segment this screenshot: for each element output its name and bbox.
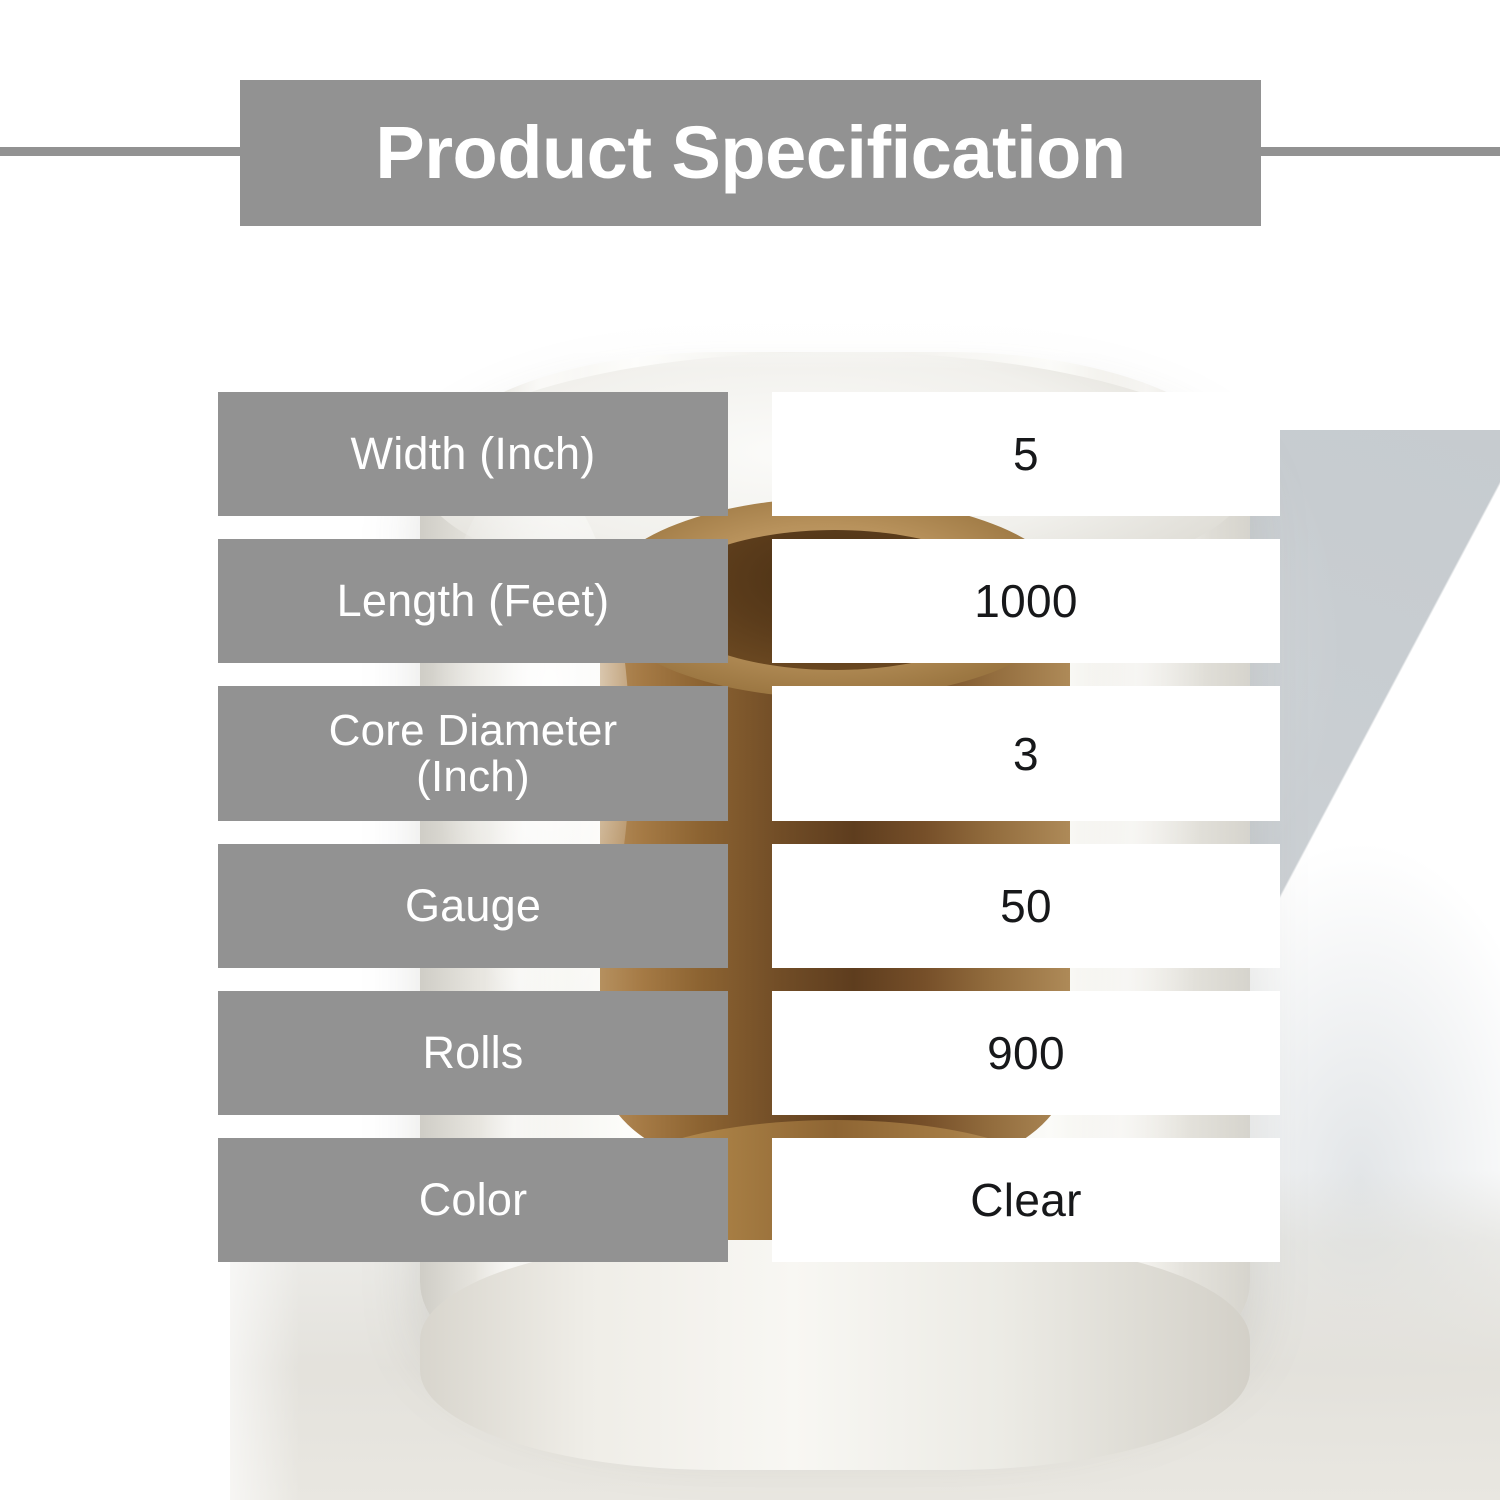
table-row: Length (Feet) 1000: [218, 539, 1280, 663]
film-roll-bottom: [420, 1240, 1250, 1470]
table-row: Core Diameter (Inch) 3: [218, 686, 1280, 821]
spec-value-core-diameter: 3: [772, 686, 1280, 821]
header-rule-right: [1259, 147, 1500, 156]
spec-value-length: 1000: [772, 539, 1280, 663]
row-gap: [728, 392, 772, 516]
spec-label-length: Length (Feet): [218, 539, 728, 663]
page-title: Product Specification: [375, 116, 1125, 190]
row-gap: [728, 1138, 772, 1262]
spec-label-core-diameter-line2: (Inch): [329, 754, 618, 800]
header-rule-left: [0, 147, 260, 156]
table-row: Width (Inch) 5: [218, 392, 1280, 516]
row-gap: [728, 844, 772, 968]
row-gap: [728, 686, 772, 821]
row-gap: [728, 991, 772, 1115]
spec-label-color: Color: [218, 1138, 728, 1262]
title-banner: Product Specification: [240, 80, 1261, 226]
table-row: Rolls 900: [218, 991, 1280, 1115]
row-gap: [728, 539, 772, 663]
table-row: Gauge 50: [218, 844, 1280, 968]
spec-label-core-diameter-line1: Core Diameter: [329, 708, 618, 754]
specification-table: Width (Inch) 5 Length (Feet) 1000 Core D…: [218, 392, 1280, 1262]
spec-label-rolls: Rolls: [218, 991, 728, 1115]
spec-value-gauge: 50: [772, 844, 1280, 968]
spec-value-width: 5: [772, 392, 1280, 516]
table-row: Color Clear: [218, 1138, 1280, 1262]
specification-card: Product Specification Width (Inch) 5 Len…: [0, 0, 1500, 1500]
spec-value-rolls: 900: [772, 991, 1280, 1115]
spec-label-width: Width (Inch): [218, 392, 728, 516]
spec-value-color: Clear: [772, 1138, 1280, 1262]
spec-label-gauge: Gauge: [218, 844, 728, 968]
spec-label-core-diameter: Core Diameter (Inch): [218, 686, 728, 821]
